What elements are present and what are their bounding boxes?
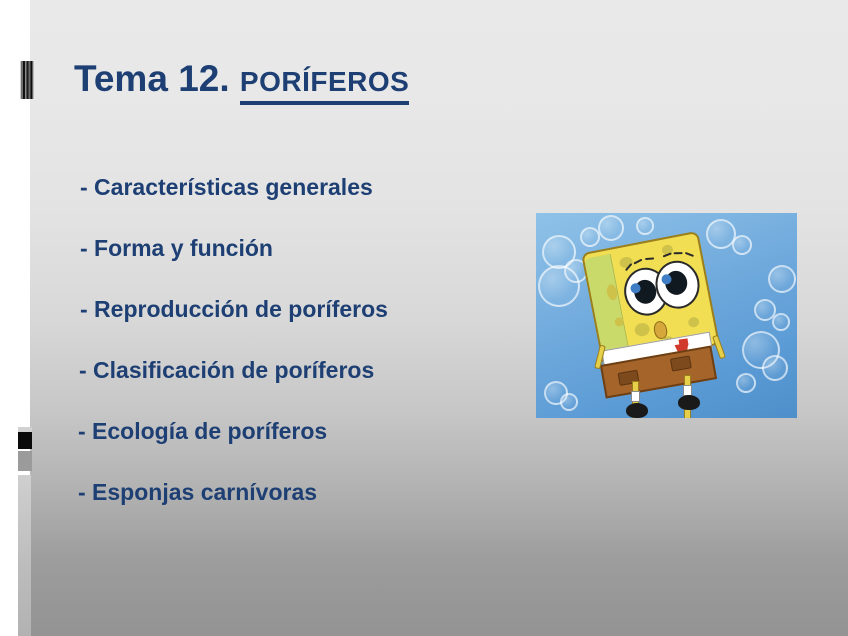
shoe-icon [678, 395, 700, 410]
bubble-icon [762, 355, 788, 381]
slide-title: Tema 12. Poríferos [74, 56, 409, 100]
bubble-icon [736, 373, 756, 393]
sock-icon [631, 391, 640, 402]
presentation-slide: Tema 12. Poríferos - Características gen… [0, 0, 848, 636]
pore-icon [687, 316, 700, 328]
pore-icon [634, 322, 651, 338]
pocket-icon [670, 355, 692, 371]
list-item: - Clasificación de poríferos [0, 355, 520, 416]
spongebob-underwater-image [536, 213, 797, 418]
bubble-icon [732, 235, 752, 255]
striped-bar-ornament-icon [20, 61, 34, 99]
list-item: - Ecología de poríferos [0, 416, 520, 477]
slide-title-lead: Tema 12. [74, 58, 240, 99]
bubble-icon [772, 313, 790, 331]
list-item: - Esponjas carnívoras [0, 477, 520, 538]
bubble-icon [538, 265, 580, 307]
eyelash-icon [674, 252, 683, 254]
list-item: - Forma y función [0, 233, 520, 294]
list-item: - Reproducción de poríferos [0, 294, 520, 355]
bubble-icon [580, 227, 600, 247]
slide-bullet-list: - Características generales - Forma y fu… [0, 172, 520, 538]
arm-icon [712, 335, 726, 360]
bubble-icon [560, 393, 578, 411]
slide-title-term: Poríferos [240, 56, 409, 105]
bubble-icon [636, 217, 654, 235]
bubble-icon [598, 215, 624, 241]
shoe-icon [626, 403, 648, 418]
list-item: - Características generales [0, 172, 520, 233]
bubble-icon [768, 265, 796, 293]
